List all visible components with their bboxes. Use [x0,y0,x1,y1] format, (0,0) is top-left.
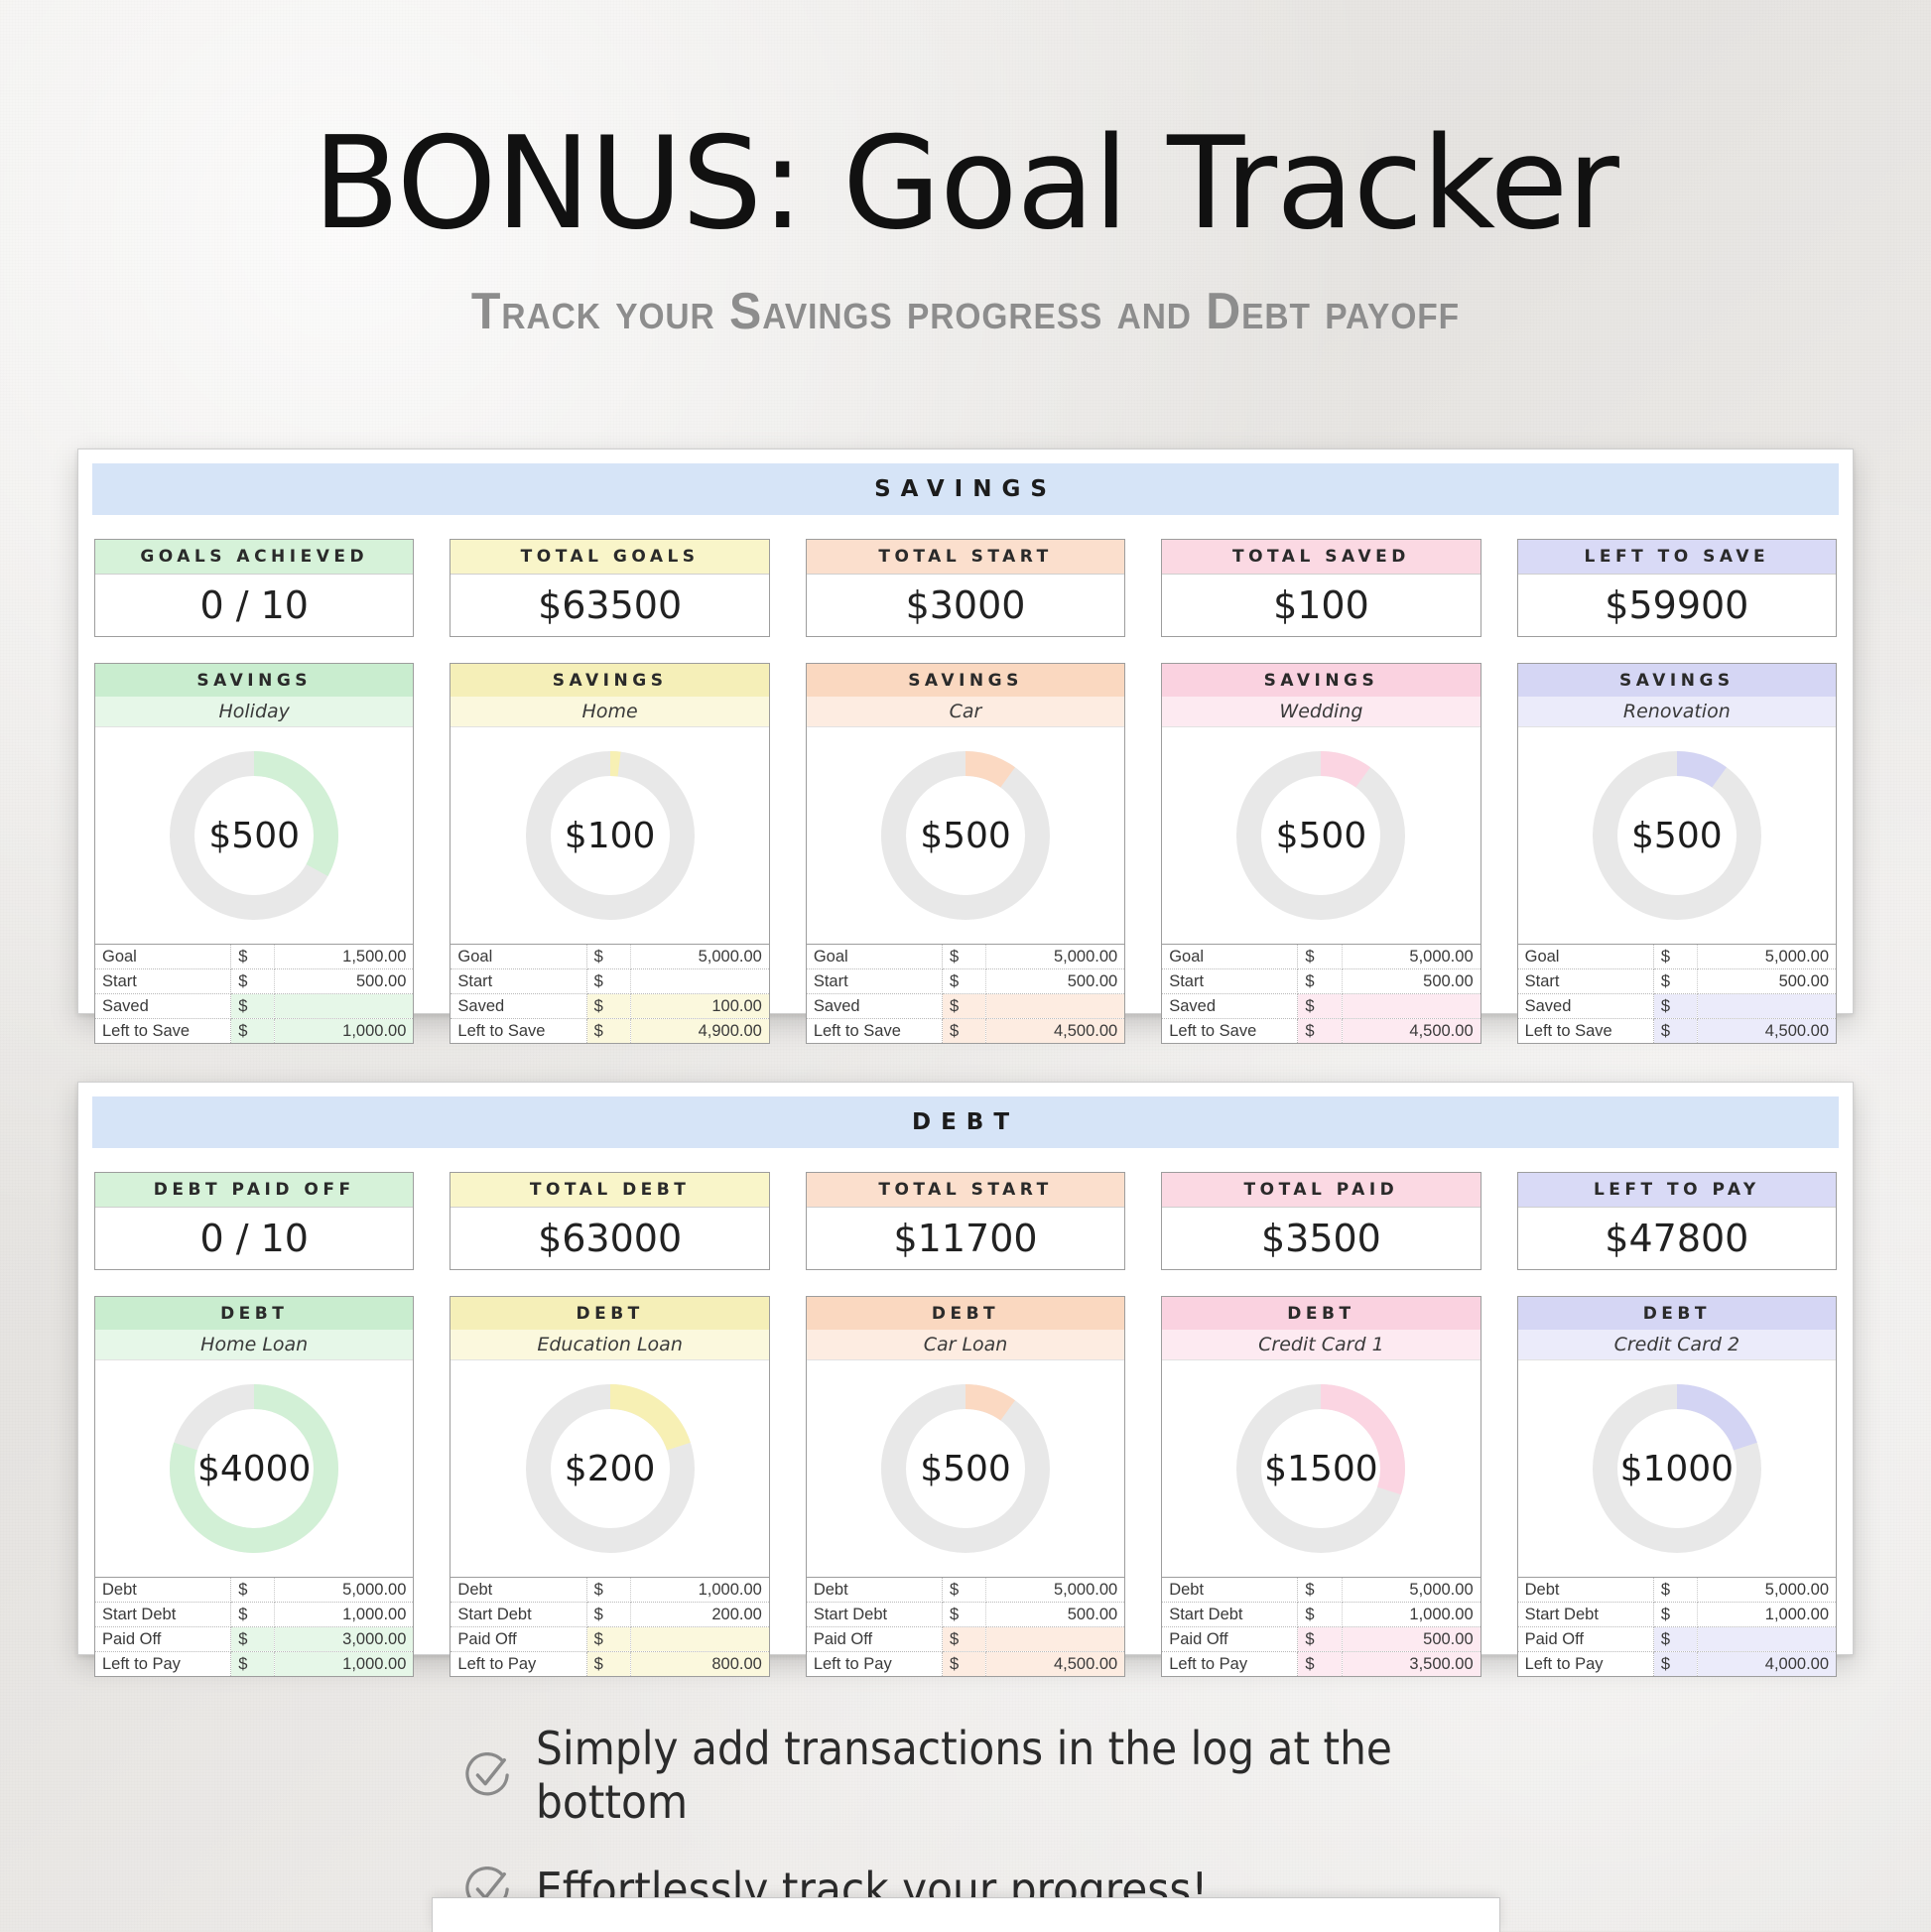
donut-center-value: $1000 [1593,1384,1761,1553]
currency-symbol: $ [1298,1019,1342,1044]
currency-symbol: $ [586,1019,630,1044]
progress-donut-chart: $500 [881,751,1050,920]
goal-card-name: Credit Card 2 [1518,1330,1836,1360]
savings-kpi-row: GOALS ACHIEVED0 / 10TOTAL GOALS$63500TOT… [94,539,1837,637]
currency-symbol: $ [1298,1627,1342,1652]
row-label: Goal [1518,945,1654,969]
kpi-card: LEFT TO SAVE$59900 [1517,539,1837,637]
goal-card-category: DEBT [1518,1297,1836,1330]
table-row: Start$ [451,969,768,994]
table-row: Saved$ [1162,994,1480,1019]
currency-symbol: $ [231,1578,275,1603]
goal-card-name: Car [807,697,1124,727]
row-amount [1698,994,1837,1019]
goal-detail-table: Goal$5,000.00Start$500.00Saved$Left to S… [1162,944,1480,1043]
table-row: Debt$5,000.00 [95,1578,413,1603]
goal-card-name: Wedding [1162,697,1480,727]
goal-card-category: DEBT [1162,1297,1480,1330]
currency-symbol: $ [1298,1652,1342,1677]
table-row: Paid Off$500.00 [1162,1627,1480,1652]
table-row: Goal$5,000.00 [1518,945,1836,969]
currency-symbol: $ [231,945,275,969]
table-row: Start Debt$1,000.00 [95,1603,413,1627]
row-label: Paid Off [451,1627,586,1652]
progress-donut-wrap: $1000 [1518,1360,1836,1577]
row-amount: 800.00 [630,1652,769,1677]
row-label: Left to Pay [95,1652,231,1677]
progress-donut-chart: $200 [526,1384,695,1553]
row-label: Saved [95,994,231,1019]
savings-sheet: SAVINGS GOALS ACHIEVED0 / 10TOTAL GOALS$… [77,449,1854,1014]
row-amount: 4,500.00 [1342,1019,1480,1044]
table-row: Saved$ [1518,994,1836,1019]
row-label: Start Debt [1518,1603,1654,1627]
row-label: Left to Pay [1518,1652,1654,1677]
table-row: Goal$1,500.00 [95,945,413,969]
currency-symbol: $ [943,1578,986,1603]
kpi-label: LEFT TO PAY [1518,1173,1836,1208]
goal-card-category: DEBT [807,1297,1124,1330]
kpi-label: LEFT TO SAVE [1518,540,1836,575]
row-label: Start Debt [807,1603,943,1627]
row-amount [986,994,1125,1019]
progress-donut-chart: $500 [1236,751,1405,920]
table-row: Saved$100.00 [451,994,768,1019]
row-amount: 500.00 [986,1603,1125,1627]
row-amount: 3,000.00 [275,1627,414,1652]
currency-symbol: $ [1298,1578,1342,1603]
row-amount: 1,500.00 [275,945,414,969]
kpi-label: TOTAL SAVED [1162,540,1480,575]
kpi-card: LEFT TO PAY$47800 [1517,1172,1837,1270]
currency-symbol: $ [586,1627,630,1652]
kpi-card: TOTAL DEBT$63000 [450,1172,769,1270]
progress-donut-wrap: $500 [807,727,1124,944]
currency-symbol: $ [231,994,275,1019]
table-row: Left to Pay$3,500.00 [1162,1652,1480,1677]
row-amount: 4,900.00 [630,1019,769,1044]
progress-donut-wrap: $200 [451,1360,768,1577]
goal-card: SAVINGSRenovation $500Goal$5,000.00Start… [1517,663,1837,1044]
goal-card: SAVINGSCar $500Goal$5,000.00Start$500.00… [806,663,1125,1044]
debt-band-label: DEBT [92,1096,1839,1148]
table-row: Saved$ [807,994,1124,1019]
row-amount: 5,000.00 [986,945,1125,969]
goal-card-name: Car Loan [807,1330,1124,1360]
kpi-value: 0 / 10 [95,575,413,636]
goal-card-name: Home Loan [95,1330,413,1360]
kpi-value: $11700 [807,1208,1124,1269]
currency-symbol: $ [586,945,630,969]
currency-symbol: $ [943,969,986,994]
table-row: Saved$ [95,994,413,1019]
progress-donut-chart: $500 [1593,751,1761,920]
row-label: Debt [807,1578,943,1603]
currency-symbol: $ [1653,945,1697,969]
row-label: Debt [1518,1578,1654,1603]
kpi-value: $3000 [807,575,1124,636]
table-row: Left to Pay$1,000.00 [95,1652,413,1677]
row-label: Paid Off [1162,1627,1298,1652]
kpi-label: TOTAL START [807,1173,1124,1208]
donut-center-value: $500 [881,1384,1050,1553]
donut-center-value: $4000 [170,1384,338,1553]
goal-tracker-page: BONUS: Goal Tracker Track your Savings p… [0,0,1931,1931]
table-row: Left to Pay$4,500.00 [807,1652,1124,1677]
kpi-card: DEBT PAID OFF0 / 10 [94,1172,414,1270]
row-amount: 1,000.00 [630,1578,769,1603]
goal-detail-table: Goal$5,000.00Start$Saved$100.00Left to S… [451,944,768,1043]
row-label: Start [451,969,586,994]
currency-symbol: $ [586,1603,630,1627]
goal-card: DEBTCredit Card 2 $1000Debt$5,000.00Star… [1517,1296,1837,1677]
row-label: Paid Off [807,1627,943,1652]
goal-card: SAVINGSHoliday $500Goal$1,500.00Start$50… [94,663,414,1044]
currency-symbol: $ [231,1627,275,1652]
progress-donut-chart: $1500 [1236,1384,1405,1553]
table-row: Left to Save$1,000.00 [95,1019,413,1044]
donut-center-value: $500 [170,751,338,920]
kpi-label: TOTAL GOALS [451,540,768,575]
currency-symbol: $ [943,1603,986,1627]
progress-donut-chart: $100 [526,751,695,920]
table-row: Left to Save$4,500.00 [807,1019,1124,1044]
table-row: Left to Save$4,500.00 [1162,1019,1480,1044]
currency-symbol: $ [943,994,986,1019]
row-label: Saved [807,994,943,1019]
goal-card-category: SAVINGS [807,664,1124,697]
progress-donut-wrap: $100 [451,727,768,944]
currency-symbol: $ [943,1627,986,1652]
row-label: Goal [95,945,231,969]
kpi-label: TOTAL DEBT [451,1173,768,1208]
row-label: Paid Off [1518,1627,1654,1652]
progress-donut-wrap: $500 [1518,727,1836,944]
row-label: Debt [95,1578,231,1603]
table-row: Goal$5,000.00 [1162,945,1480,969]
donut-center-value: $500 [1593,751,1761,920]
goal-detail-table: Goal$5,000.00Start$500.00Saved$Left to S… [807,944,1124,1043]
currency-symbol: $ [1298,1603,1342,1627]
debt-sheet: DEBT DEBT PAID OFF0 / 10TOTAL DEBT$63000… [77,1082,1854,1655]
row-label: Saved [1162,994,1298,1019]
table-row: Paid Off$ [807,1627,1124,1652]
currency-symbol: $ [1298,969,1342,994]
kpi-card: TOTAL START$3000 [806,539,1125,637]
row-amount: 1,000.00 [1698,1603,1837,1627]
table-row: Left to Pay$4,000.00 [1518,1652,1836,1677]
table-row: Left to Pay$800.00 [451,1652,768,1677]
kpi-card: GOALS ACHIEVED0 / 10 [94,539,414,637]
row-label: Start Debt [1162,1603,1298,1627]
currency-symbol: $ [586,1578,630,1603]
goal-card-name: Credit Card 1 [1162,1330,1480,1360]
savings-band-label: SAVINGS [92,463,1839,515]
page-subtitle: Track your Savings progress and Debt pay… [67,282,1864,341]
table-row: Start Debt$1,000.00 [1162,1603,1480,1627]
table-row: Debt$5,000.00 [1162,1578,1480,1603]
progress-donut-wrap: $500 [1162,727,1480,944]
row-label: Start Debt [451,1603,586,1627]
row-amount: 4,000.00 [1698,1652,1837,1677]
row-amount: 500.00 [275,969,414,994]
table-row: Start Debt$200.00 [451,1603,768,1627]
savings-cards-row: SAVINGSHoliday $500Goal$1,500.00Start$50… [94,663,1837,1044]
donut-center-value: $200 [526,1384,695,1553]
feature-bullet: Simply add transactions in the log at th… [464,1722,1467,1829]
row-amount: 4,500.00 [986,1652,1125,1677]
table-row: Debt$1,000.00 [451,1578,768,1603]
row-label: Left to Save [1518,1019,1654,1044]
currency-symbol: $ [231,969,275,994]
row-label: Left to Pay [807,1652,943,1677]
currency-symbol: $ [1298,994,1342,1019]
goal-card-category: SAVINGS [95,664,413,697]
progress-donut-wrap: $4000 [95,1360,413,1577]
goal-detail-table: Debt$5,000.00Start Debt$1,000.00Paid Off… [1162,1577,1480,1676]
row-label: Goal [1162,945,1298,969]
row-label: Saved [1518,994,1654,1019]
goal-card: DEBTHome Loan $4000Debt$5,000.00Start De… [94,1296,414,1677]
currency-symbol: $ [1653,1652,1697,1677]
currency-symbol: $ [943,1019,986,1044]
goal-card: DEBTEducation Loan $200Debt$1,000.00Star… [450,1296,769,1677]
row-amount: 4,500.00 [1698,1019,1837,1044]
table-row: Start$500.00 [1162,969,1480,994]
debt-cards-row: DEBTHome Loan $4000Debt$5,000.00Start De… [94,1296,1837,1677]
currency-symbol: $ [1653,994,1697,1019]
row-label: Left to Save [451,1019,586,1044]
row-amount: 500.00 [986,969,1125,994]
kpi-card: TOTAL SAVED$100 [1161,539,1480,637]
currency-symbol: $ [1653,1578,1697,1603]
row-amount [630,969,769,994]
goal-card-name: Holiday [95,697,413,727]
row-amount: 1,000.00 [275,1019,414,1044]
check-circle-icon [464,1752,510,1798]
table-row: Goal$5,000.00 [807,945,1124,969]
goal-card-name: Education Loan [451,1330,768,1360]
row-amount: 3,500.00 [1342,1652,1480,1677]
row-label: Start [1518,969,1654,994]
row-amount: 4,500.00 [986,1019,1125,1044]
table-row: Debt$5,000.00 [1518,1578,1836,1603]
goal-card-category: DEBT [95,1297,413,1330]
table-row: Start Debt$500.00 [807,1603,1124,1627]
row-amount: 1,000.00 [1342,1603,1480,1627]
row-amount: 1,000.00 [275,1652,414,1677]
donut-center-value: $100 [526,751,695,920]
progress-donut-chart: $1000 [1593,1384,1761,1553]
kpi-value: $63000 [451,1208,768,1269]
currency-symbol: $ [586,969,630,994]
currency-symbol: $ [1653,1603,1697,1627]
goal-card: DEBTCar Loan $500Debt$5,000.00Start Debt… [806,1296,1125,1677]
goal-detail-table: Debt$5,000.00Start Debt$1,000.00Paid Off… [95,1577,413,1676]
progress-donut-wrap: $500 [807,1360,1124,1577]
row-label: Start Debt [95,1603,231,1627]
row-label: Left to Pay [1162,1652,1298,1677]
table-row: Paid Off$ [1518,1627,1836,1652]
row-label: Goal [807,945,943,969]
kpi-card: TOTAL START$11700 [806,1172,1125,1270]
row-amount: 500.00 [1342,1627,1480,1652]
progress-donut-chart: $4000 [170,1384,338,1553]
row-amount: 100.00 [630,994,769,1019]
kpi-value: $63500 [451,575,768,636]
currency-symbol: $ [943,945,986,969]
row-label: Start [1162,969,1298,994]
row-amount [986,1627,1125,1652]
row-amount: 5,000.00 [1342,945,1480,969]
row-label: Left to Save [807,1019,943,1044]
table-row: Start$500.00 [807,969,1124,994]
row-amount: 200.00 [630,1603,769,1627]
kpi-value: $100 [1162,575,1480,636]
kpi-label: TOTAL PAID [1162,1173,1480,1208]
row-label: Left to Save [1162,1019,1298,1044]
currency-symbol: $ [1298,945,1342,969]
row-amount [275,994,414,1019]
goal-card-category: SAVINGS [1162,664,1480,697]
row-amount: 500.00 [1342,969,1480,994]
goal-detail-table: Debt$5,000.00Start Debt$1,000.00Paid Off… [1518,1577,1836,1676]
row-amount [1342,994,1480,1019]
goal-detail-table: Goal$5,000.00Start$500.00Saved$Left to S… [1518,944,1836,1043]
page-title: BONUS: Goal Tracker [0,0,1931,248]
table-row: Start$500.00 [95,969,413,994]
goal-card: SAVINGSWedding $500Goal$5,000.00Start$50… [1161,663,1480,1044]
goal-detail-table: Debt$1,000.00Start Debt$200.00Paid Off$L… [451,1577,768,1676]
row-label: Saved [451,994,586,1019]
goal-card: SAVINGSHome $100Goal$5,000.00Start$Saved… [450,663,769,1044]
feature-bullets: Simply add transactions in the log at th… [0,1722,1931,1916]
feature-bullet-text: Simply add transactions in the log at th… [536,1722,1392,1829]
row-amount: 5,000.00 [1698,945,1837,969]
currency-symbol: $ [1653,969,1697,994]
goal-card-category: SAVINGS [1518,664,1836,697]
goal-card-name: Home [451,697,768,727]
kpi-value: $47800 [1518,1208,1836,1269]
row-amount: 5,000.00 [986,1578,1125,1603]
row-amount: 500.00 [1698,969,1837,994]
goal-card-name: Renovation [1518,697,1836,727]
table-row: Left to Save$4,500.00 [1518,1019,1836,1044]
row-amount: 5,000.00 [275,1578,414,1603]
progress-donut-wrap: $1500 [1162,1360,1480,1577]
row-label: Debt [451,1578,586,1603]
currency-symbol: $ [231,1603,275,1627]
goal-card: DEBTCredit Card 1 $1500Debt$5,000.00Star… [1161,1296,1480,1677]
table-row: Start$500.00 [1518,969,1836,994]
kpi-label: TOTAL START [807,540,1124,575]
row-amount: 1,000.00 [275,1603,414,1627]
table-row: Goal$5,000.00 [451,945,768,969]
kpi-value: 0 / 10 [95,1208,413,1269]
progress-donut-chart: $500 [881,1384,1050,1553]
currency-symbol: $ [943,1652,986,1677]
row-label: Left to Pay [451,1652,586,1677]
donut-center-value: $500 [881,751,1050,920]
goal-card-category: SAVINGS [451,664,768,697]
currency-symbol: $ [231,1652,275,1677]
row-label: Paid Off [95,1627,231,1652]
currency-symbol: $ [1653,1019,1697,1044]
currency-symbol: $ [586,1652,630,1677]
table-row: Start Debt$1,000.00 [1518,1603,1836,1627]
row-amount: 5,000.00 [630,945,769,969]
bottom-sheet-edge [432,1897,1500,1932]
kpi-card: TOTAL PAID$3500 [1161,1172,1480,1270]
row-label: Start [95,969,231,994]
row-label: Left to Save [95,1019,231,1044]
table-row: Debt$5,000.00 [807,1578,1124,1603]
progress-donut-chart: $500 [170,751,338,920]
row-label: Goal [451,945,586,969]
progress-donut-wrap: $500 [95,727,413,944]
currency-symbol: $ [1653,1627,1697,1652]
table-row: Paid Off$ [451,1627,768,1652]
kpi-value: $59900 [1518,575,1836,636]
currency-symbol: $ [586,994,630,1019]
row-amount: 5,000.00 [1342,1578,1480,1603]
kpi-card: TOTAL GOALS$63500 [450,539,769,637]
kpi-value: $3500 [1162,1208,1480,1269]
row-label: Start [807,969,943,994]
goal-detail-table: Debt$5,000.00Start Debt$500.00Paid Off$L… [807,1577,1124,1676]
goal-card-category: DEBT [451,1297,768,1330]
donut-center-value: $1500 [1236,1384,1405,1553]
goal-detail-table: Goal$1,500.00Start$500.00Saved$Left to S… [95,944,413,1043]
row-amount [630,1627,769,1652]
kpi-label: DEBT PAID OFF [95,1173,413,1208]
kpi-label: GOALS ACHIEVED [95,540,413,575]
debt-kpi-row: DEBT PAID OFF0 / 10TOTAL DEBT$63000TOTAL… [94,1172,1837,1270]
currency-symbol: $ [231,1019,275,1044]
donut-center-value: $500 [1236,751,1405,920]
table-row: Paid Off$3,000.00 [95,1627,413,1652]
row-amount: 5,000.00 [1698,1578,1837,1603]
table-row: Left to Save$4,900.00 [451,1019,768,1044]
row-amount [1698,1627,1837,1652]
row-label: Debt [1162,1578,1298,1603]
